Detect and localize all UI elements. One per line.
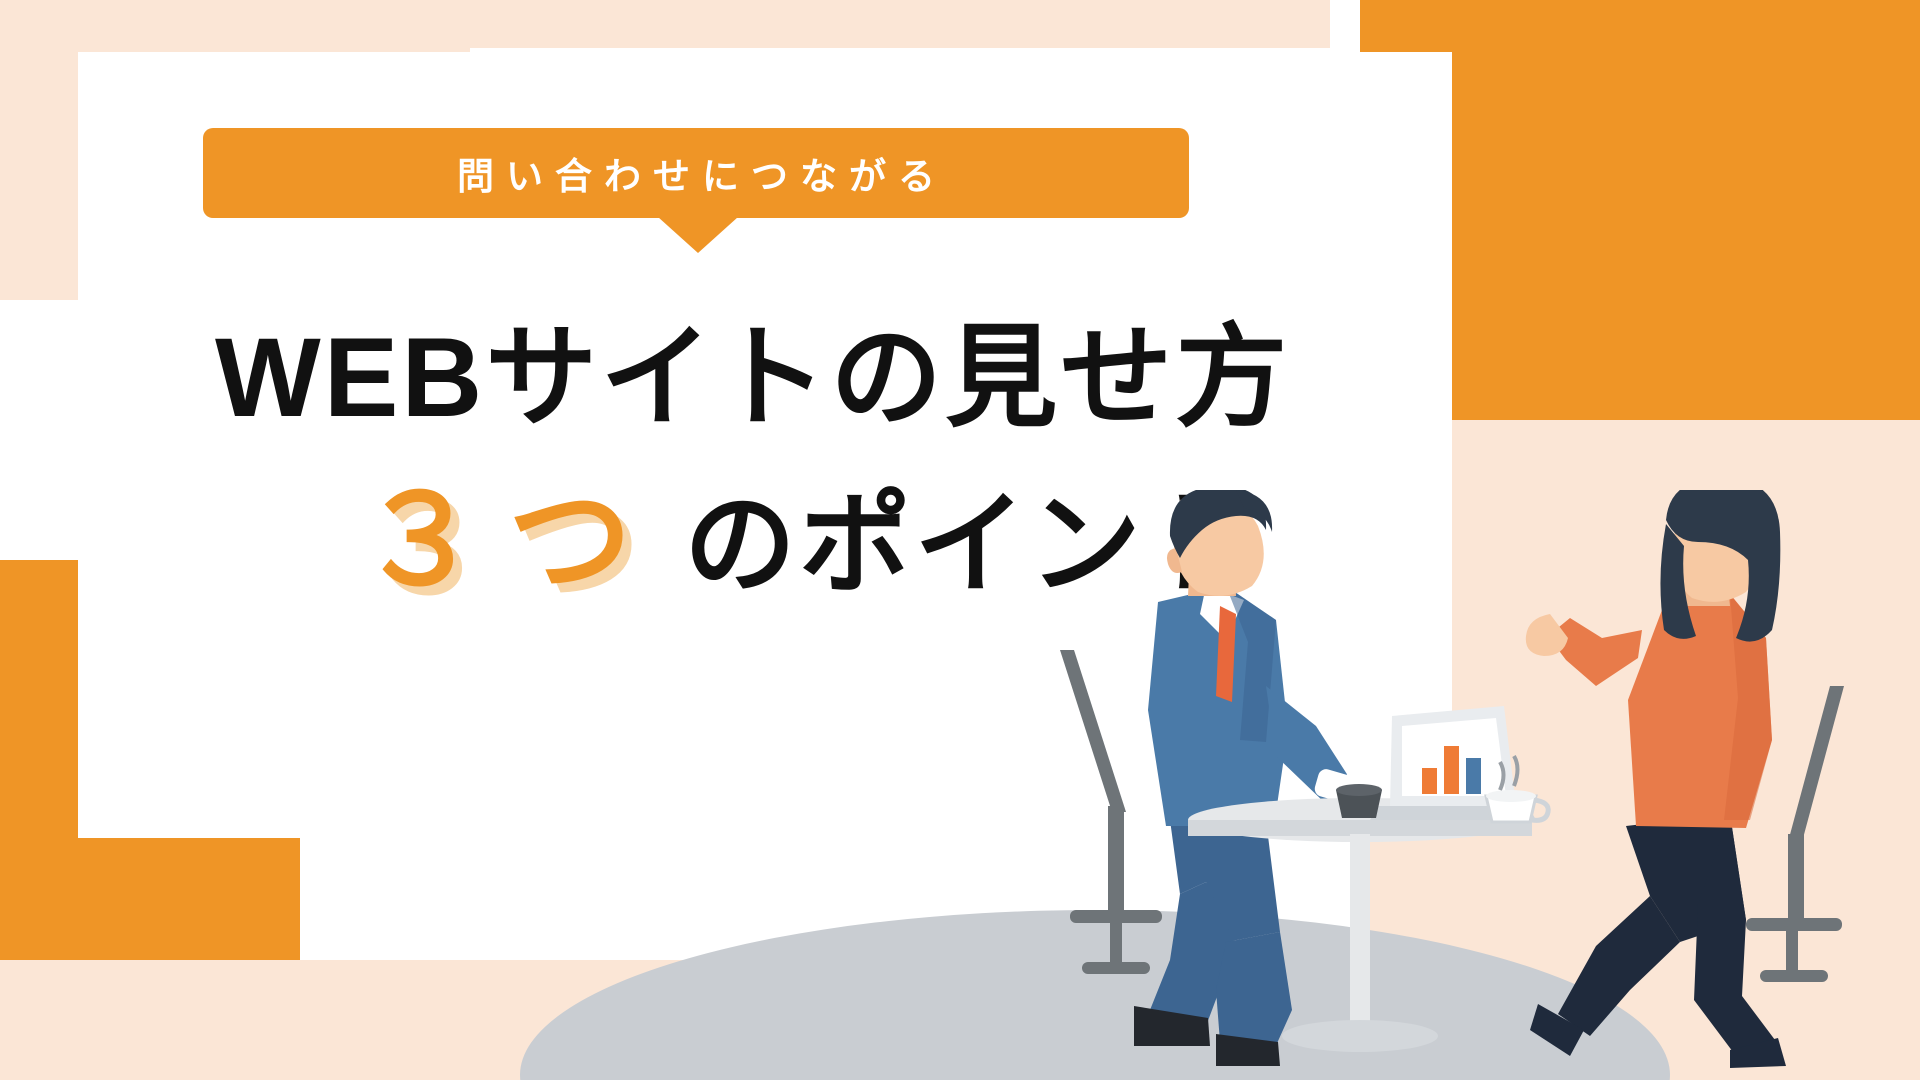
chart-bar-1 xyxy=(1422,768,1437,794)
banner: 問い合わせにつながる xyxy=(203,128,1189,218)
businesswoman-right-icon xyxy=(1526,490,1786,1068)
highlight-number: ３つ xyxy=(358,473,658,609)
meeting-illustration xyxy=(1030,490,1920,1080)
chair-left-icon xyxy=(1060,650,1162,974)
banner-tail-triangle xyxy=(658,217,738,253)
businessman-left-icon xyxy=(1134,490,1381,1066)
page-title-line-1: WEBサイトの見せ方 xyxy=(0,316,1530,439)
chart-bar-3 xyxy=(1466,758,1481,794)
coffee-cup-left-icon xyxy=(1336,756,1382,818)
chart-bar-2 xyxy=(1444,746,1459,794)
banner-body: 問い合わせにつながる xyxy=(203,128,1189,218)
banner-label: 問い合わせにつながる xyxy=(445,146,947,200)
